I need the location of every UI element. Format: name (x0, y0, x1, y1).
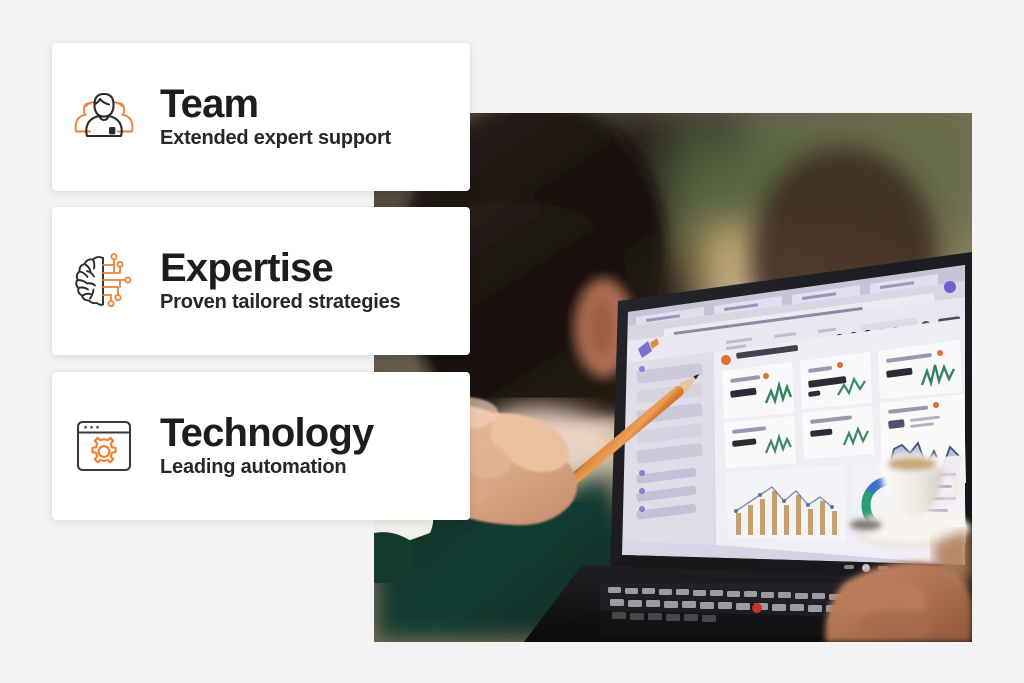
page-root: Team Extended expert support (0, 0, 1024, 683)
feature-card-expertise[interactable]: Expertise Proven tailored strategies (52, 207, 470, 355)
team-card-subtitle: Extended expert support (160, 127, 391, 150)
browser-gear-icon (52, 372, 156, 520)
technology-card-title: Technology (160, 413, 374, 454)
expertise-card-text: Expertise Proven tailored strategies (156, 248, 400, 315)
brain-circuit-icon-svg (74, 253, 134, 309)
team-card-text: Team Extended expert support (156, 84, 391, 151)
browser-gear-icon-svg (75, 418, 133, 474)
team-card-title: Team (160, 84, 391, 125)
expertise-card-subtitle: Proven tailored strategies (160, 291, 400, 314)
brain-circuit-icon (52, 207, 156, 355)
technology-card-subtitle: Leading automation (160, 456, 374, 479)
feature-card-technology[interactable]: Technology Leading automation (52, 372, 470, 520)
expertise-card-title: Expertise (160, 248, 400, 289)
feature-card-team[interactable]: Team Extended expert support (52, 43, 470, 191)
technology-card-text: Technology Leading automation (156, 413, 374, 480)
team-group-icon (52, 43, 156, 191)
team-group-icon-svg (73, 91, 135, 143)
